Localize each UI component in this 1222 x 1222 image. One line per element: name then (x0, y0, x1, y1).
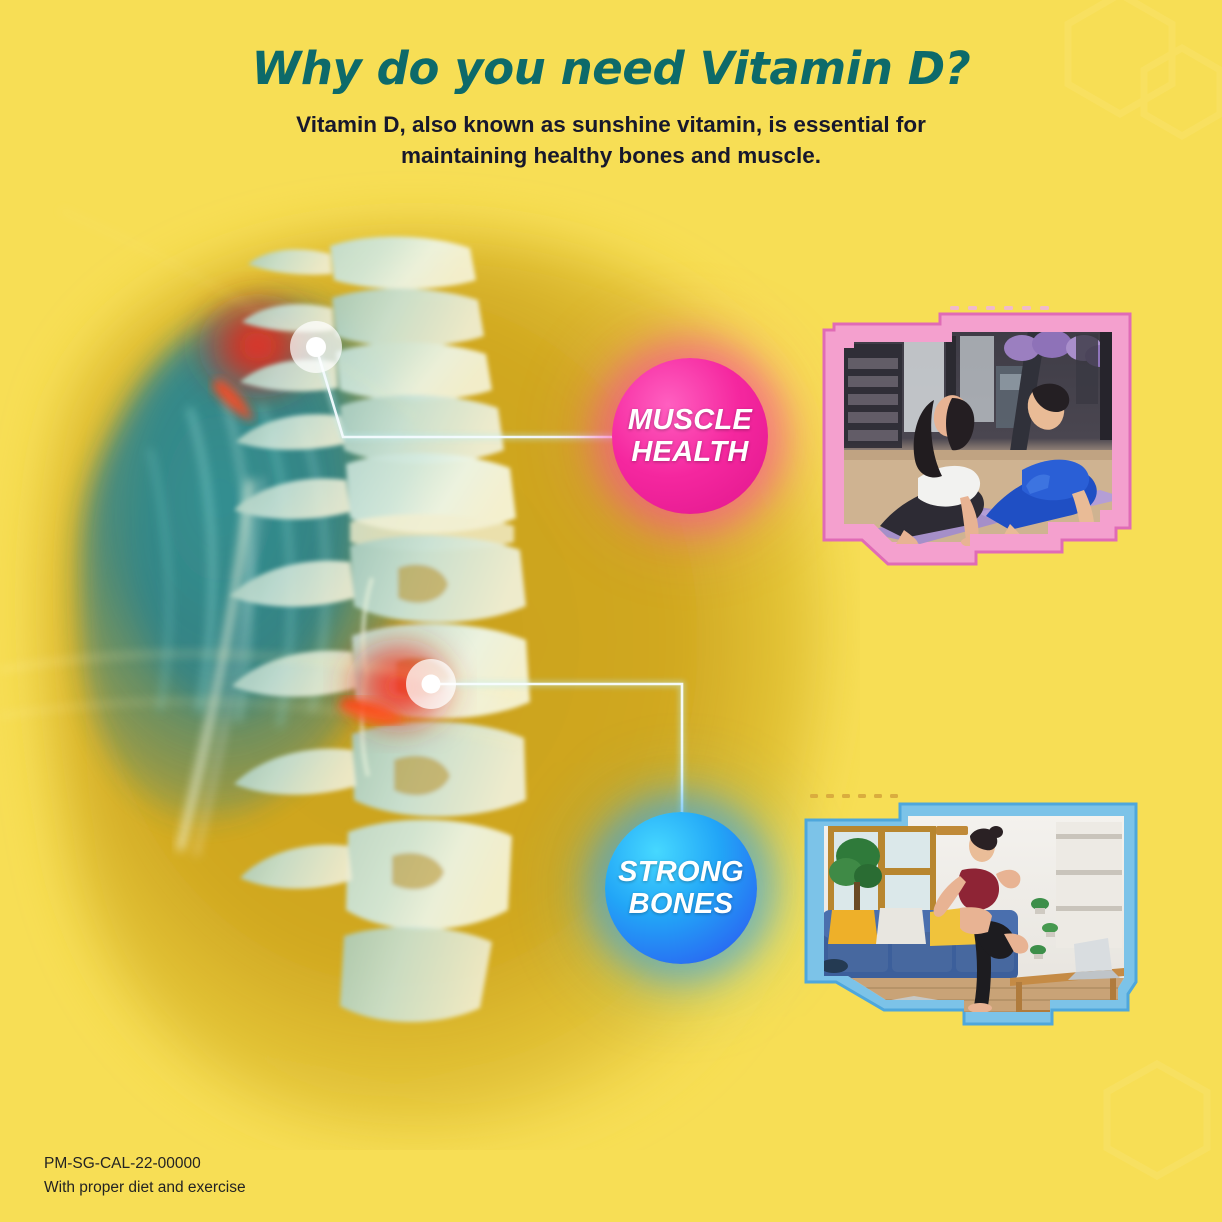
callout-line-1: MUSCLE (628, 404, 752, 436)
callout-line-1: STRONG (618, 856, 744, 888)
footer-code: PM-SG-CAL-22-00000 (44, 1152, 246, 1176)
callout-line-2: HEALTH (628, 436, 752, 468)
bone-hotspot-glow (336, 630, 464, 742)
subtitle-line-2: maintaining healthy bones and muscle. (261, 140, 961, 171)
lumbar-spine-illustration (0, 150, 860, 1150)
footer-note: With proper diet and exercise (44, 1176, 246, 1200)
page-title: Why do you need Vitamin D? (0, 0, 1222, 95)
home-workout-photo[interactable] (788, 782, 1156, 1064)
header: Why do you need Vitamin D? Vitamin D, al… (0, 0, 1222, 171)
hexagon-watermark-icon-bottom (1052, 1052, 1222, 1222)
frame-accent-dashes-blue (810, 794, 898, 798)
subtitle-text-b: , is essential for (756, 112, 926, 137)
callout-label-muscle: MUSCLE HEALTH (628, 404, 752, 469)
subtitle-emphasis: sunshine vitamin (572, 112, 756, 137)
yoga-pair-photo[interactable] (800, 300, 1152, 580)
footer: PM-SG-CAL-22-00000 With proper diet and … (44, 1152, 246, 1200)
frame-accent-dashes (950, 306, 1049, 310)
callout-label-bones: STRONG BONES (618, 856, 744, 921)
callout-line-2: BONES (618, 888, 744, 920)
callout-bubble-muscle-health[interactable]: MUSCLE HEALTH (612, 358, 768, 514)
photo-content-yoga (840, 328, 1126, 547)
subtitle-line-1: Vitamin D, also known as sunshine vitami… (261, 109, 961, 140)
page-subtitle: Vitamin D, also known as sunshine vitami… (261, 109, 961, 171)
subtitle-text-a: Vitamin D, also known as (296, 112, 572, 137)
callout-bubble-strong-bones[interactable]: STRONG BONES (605, 812, 757, 964)
infographic-canvas: Why do you need Vitamin D? Vitamin D, al… (0, 0, 1222, 1222)
